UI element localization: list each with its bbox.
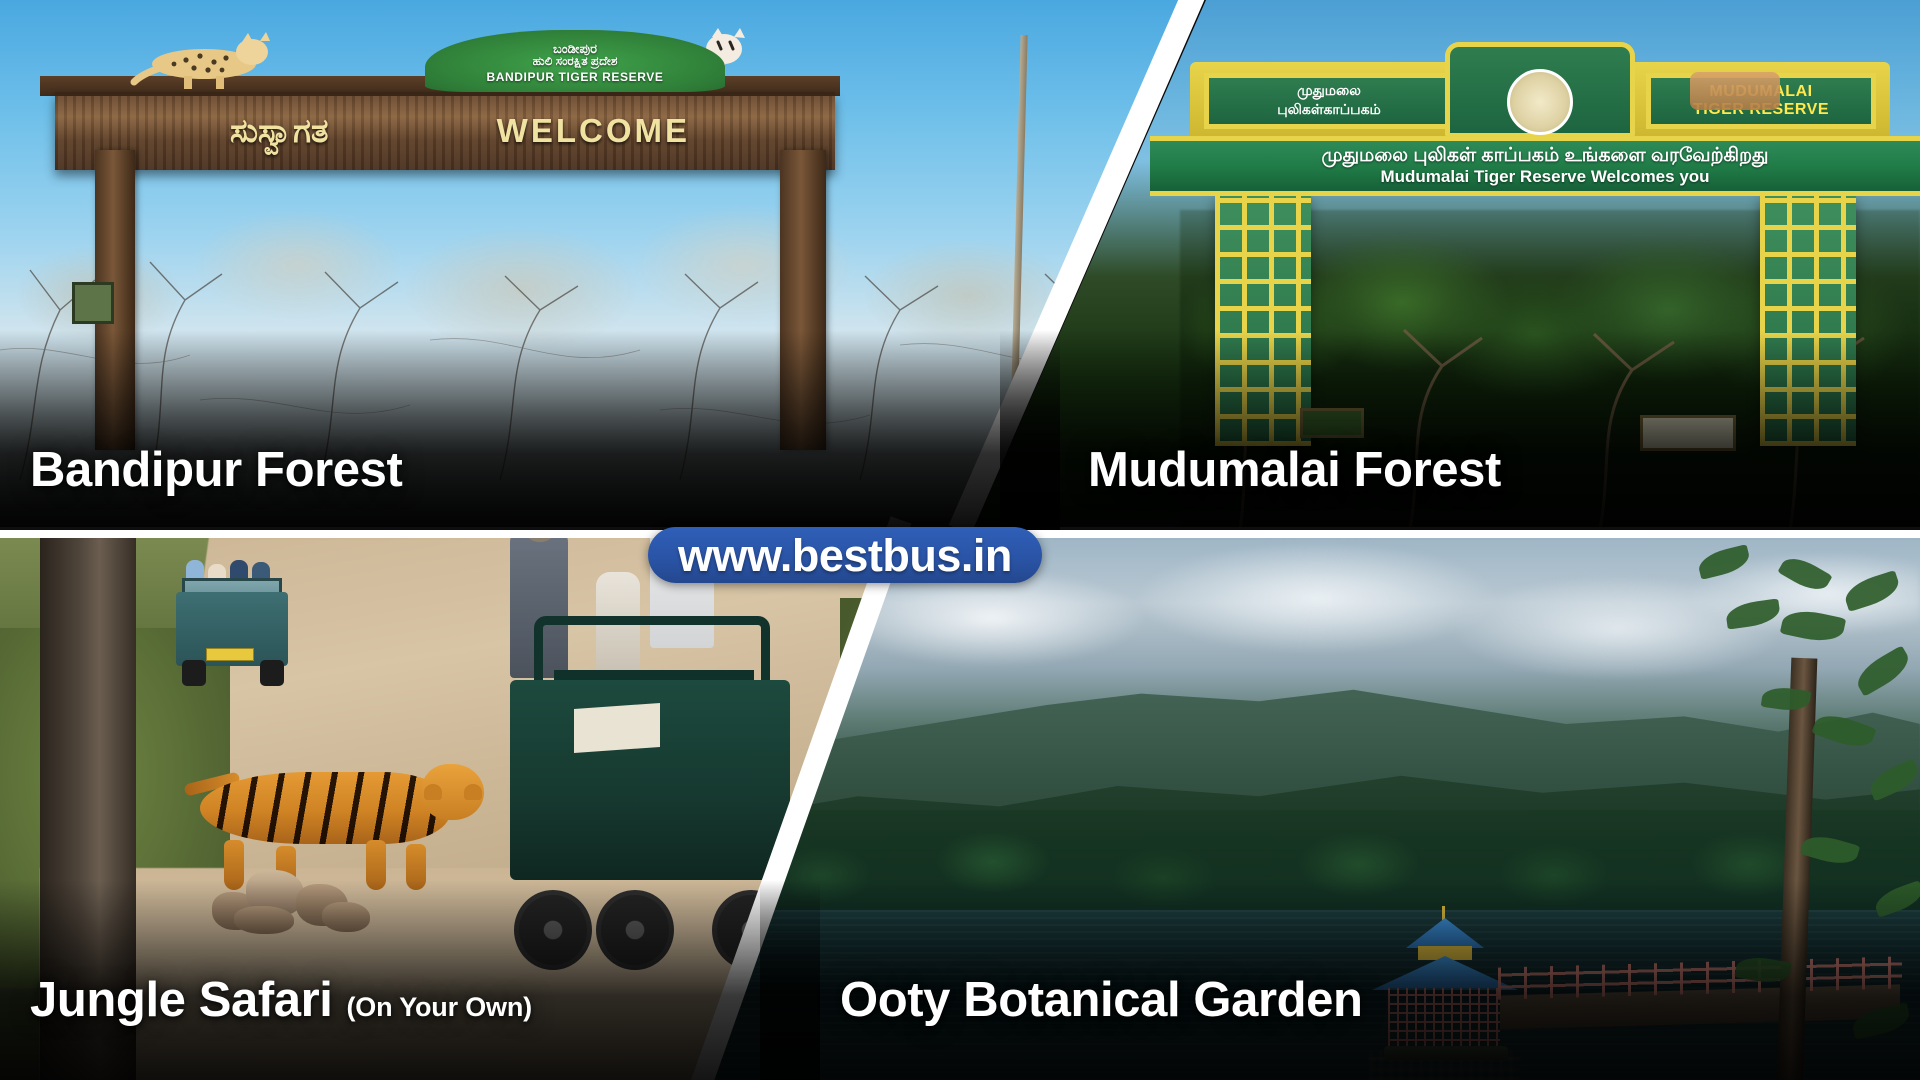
tiger-body [200,772,450,844]
safari-jeep-distant [168,556,298,688]
jeep-wheel [514,890,592,970]
gate-tamil-line2: புலிகள்காப்பகம் [1277,101,1381,120]
website-badge[interactable]: www.bestbus.in [648,527,1042,583]
roadside-rocks [212,858,382,934]
website-url-text: www.bestbus.in [678,533,1012,578]
gate-green-sign: ಬಂಡೀಪುರ ಹುಲಿ ಸಂರಕ್ಷಿತ ಪ್ರದೇಶ BANDIPUR TI… [425,30,725,92]
sign-kannada-line2: ಹುಲಿ ಸಂರಕ್ಷಿತ ಪ್ರದೇಶ [533,55,618,68]
gate-tamil-line1: முதுமலை [1297,82,1361,101]
welcome-kannada-text: ಸುಸ್ವಾಗತ [230,112,328,151]
tour-collage: ಬಂಡೀಪುರ ಹುಲಿ ಸಂರಕ್ಷಿತ ಪ್ರದೇಶ BANDIPUR TI… [0,0,1920,1080]
jeep-wheel [182,660,206,686]
gate-top-structure: முதுமலை புலிகள்காப்பகம் MUDUMALAI TIGER … [1190,62,1890,140]
info-board-left [1300,408,1364,438]
banner-english-text: Mudumalai Tiger Reserve Welcomes you [1150,167,1920,187]
gate-crest-panel [1445,42,1635,138]
caption-jungle-safari-main: Jungle Safari [30,972,333,1028]
pavilion-lattice [1388,988,1500,1050]
welcome-english-text: WELCOME [497,112,690,150]
banner-tamil-text: முதுமலை புலிகள் காப்பகம் உங்களை வரவேற்கி… [1150,145,1920,169]
caption-ooty: Ooty Botanical Garden [840,972,1363,1028]
foreground-foliage [1630,538,1920,1080]
gate-post-right [780,150,826,450]
sign-english-title: BANDIPUR TIGER RESERVE [486,70,663,84]
foreground-tree-trunk [1777,658,1818,1080]
tiger-statue-icon [1690,72,1780,110]
gate-welcome-row: ಸುಸ್ವಾಗತ WELCOME [230,100,690,162]
caption-bandipur: Bandipur Forest [30,442,402,498]
jeep-side-placard [574,703,660,753]
gate-tamil-panel: முதுமலை புலிகள்காப்பகம் [1204,73,1454,129]
pavilion-base [1384,1046,1508,1060]
tiger-leg [406,844,426,890]
pavilion-finial [1442,906,1445,920]
tamil-nadu-emblem-icon [1507,69,1573,135]
tiger-head [422,764,484,820]
info-board-right [1640,415,1736,451]
gate-pillar-left [1215,196,1311,446]
jeep-wheel [260,660,284,686]
caption-jungle-safari: Jungle Safari (On Your Own) [30,972,532,1028]
leopard-statue-icon [130,28,290,90]
caption-mudumalai: Mudumalai Forest [1088,442,1501,498]
pavilion-lower-roof [1372,956,1518,990]
welcome-banner: முதுமலை புலிகள் காப்பகம் உங்களை வரவேற்கி… [1150,136,1920,196]
tiger-stripes [200,772,450,844]
gate-pillar-right [1760,196,1856,446]
pavilion-upper-roof [1406,918,1484,948]
jeep-number-plate [206,648,254,661]
jeep-wheel [596,890,674,970]
caption-jungle-safari-sub: (On Your Own) [347,992,532,1023]
roadside-signboard [72,282,114,324]
